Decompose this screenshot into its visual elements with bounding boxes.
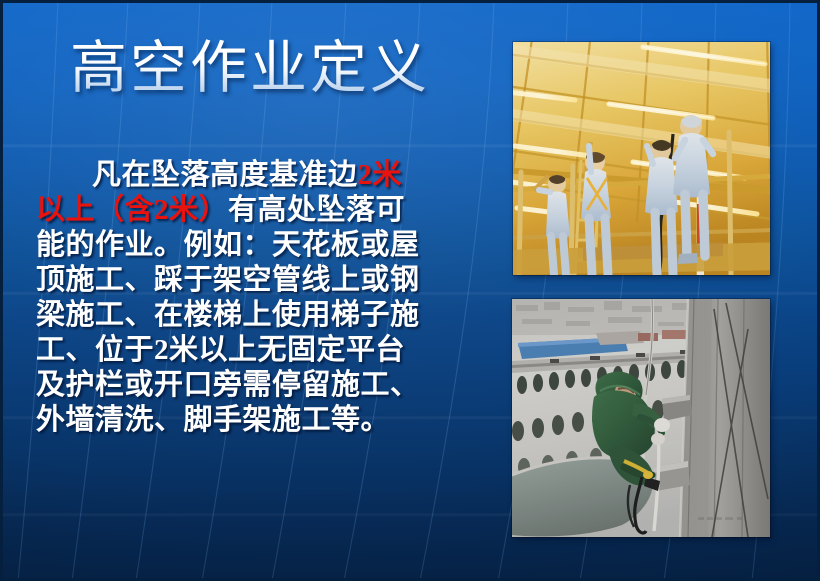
body-text-run: 有高处坠落可 (228, 194, 405, 226)
body-line-6: 工、位于2米以上无固定平台 (36, 333, 488, 368)
ceiling-scaffold-photo-graphic (513, 42, 770, 275)
body-line-2: 以上（含2米）有高处坠落可 (36, 193, 488, 228)
body-line-5: 梁施工、在楼梯上使用梯子施 (36, 298, 488, 333)
highlight-text: 2米 (358, 159, 403, 191)
rope-facade-photo-graphic (512, 299, 770, 537)
body-text-run: 外墙清洗、脚手架施工等。 (36, 404, 390, 436)
body-line-4: 顶施工、踩于架空管线上或钢 (36, 263, 488, 298)
body-line-3: 能的作业。例如：天花板或屋 (36, 228, 488, 263)
body-text-run: 梁施工、在楼梯上使用梯子施 (36, 299, 420, 331)
highlight-text: 以上（含2米） (36, 194, 228, 226)
body-line-1: 凡在坠落高度基准边2米 (36, 158, 488, 193)
body-text-run: 及护栏或开口旁需停留施工、 (36, 369, 420, 401)
body-line-7: 及护栏或开口旁需停留施工、 (36, 368, 488, 403)
body-text-run: 工、位于2米以上无固定平台 (36, 334, 405, 366)
body-line-8: 外墙清洗、脚手架施工等。 (36, 403, 488, 438)
body-text-run: 顶施工、踩于架空管线上或钢 (36, 264, 420, 296)
body-text-run: 能的作业。例如：天花板或屋 (36, 229, 420, 261)
body-text-run: 凡在坠落高度基准边 (92, 159, 358, 191)
presentation-slide: 高空作业定义 凡在坠落高度基准边2米以上（含2米）有高处坠落可能的作业。例如：天… (0, 0, 820, 581)
rope-facade-photo (512, 299, 770, 537)
body-paragraph: 凡在坠落高度基准边2米以上（含2米）有高处坠落可能的作业。例如：天花板或屋顶施工… (36, 158, 488, 438)
page-title: 高空作业定义 (0, 36, 500, 102)
ceiling-scaffold-photo (513, 42, 770, 275)
